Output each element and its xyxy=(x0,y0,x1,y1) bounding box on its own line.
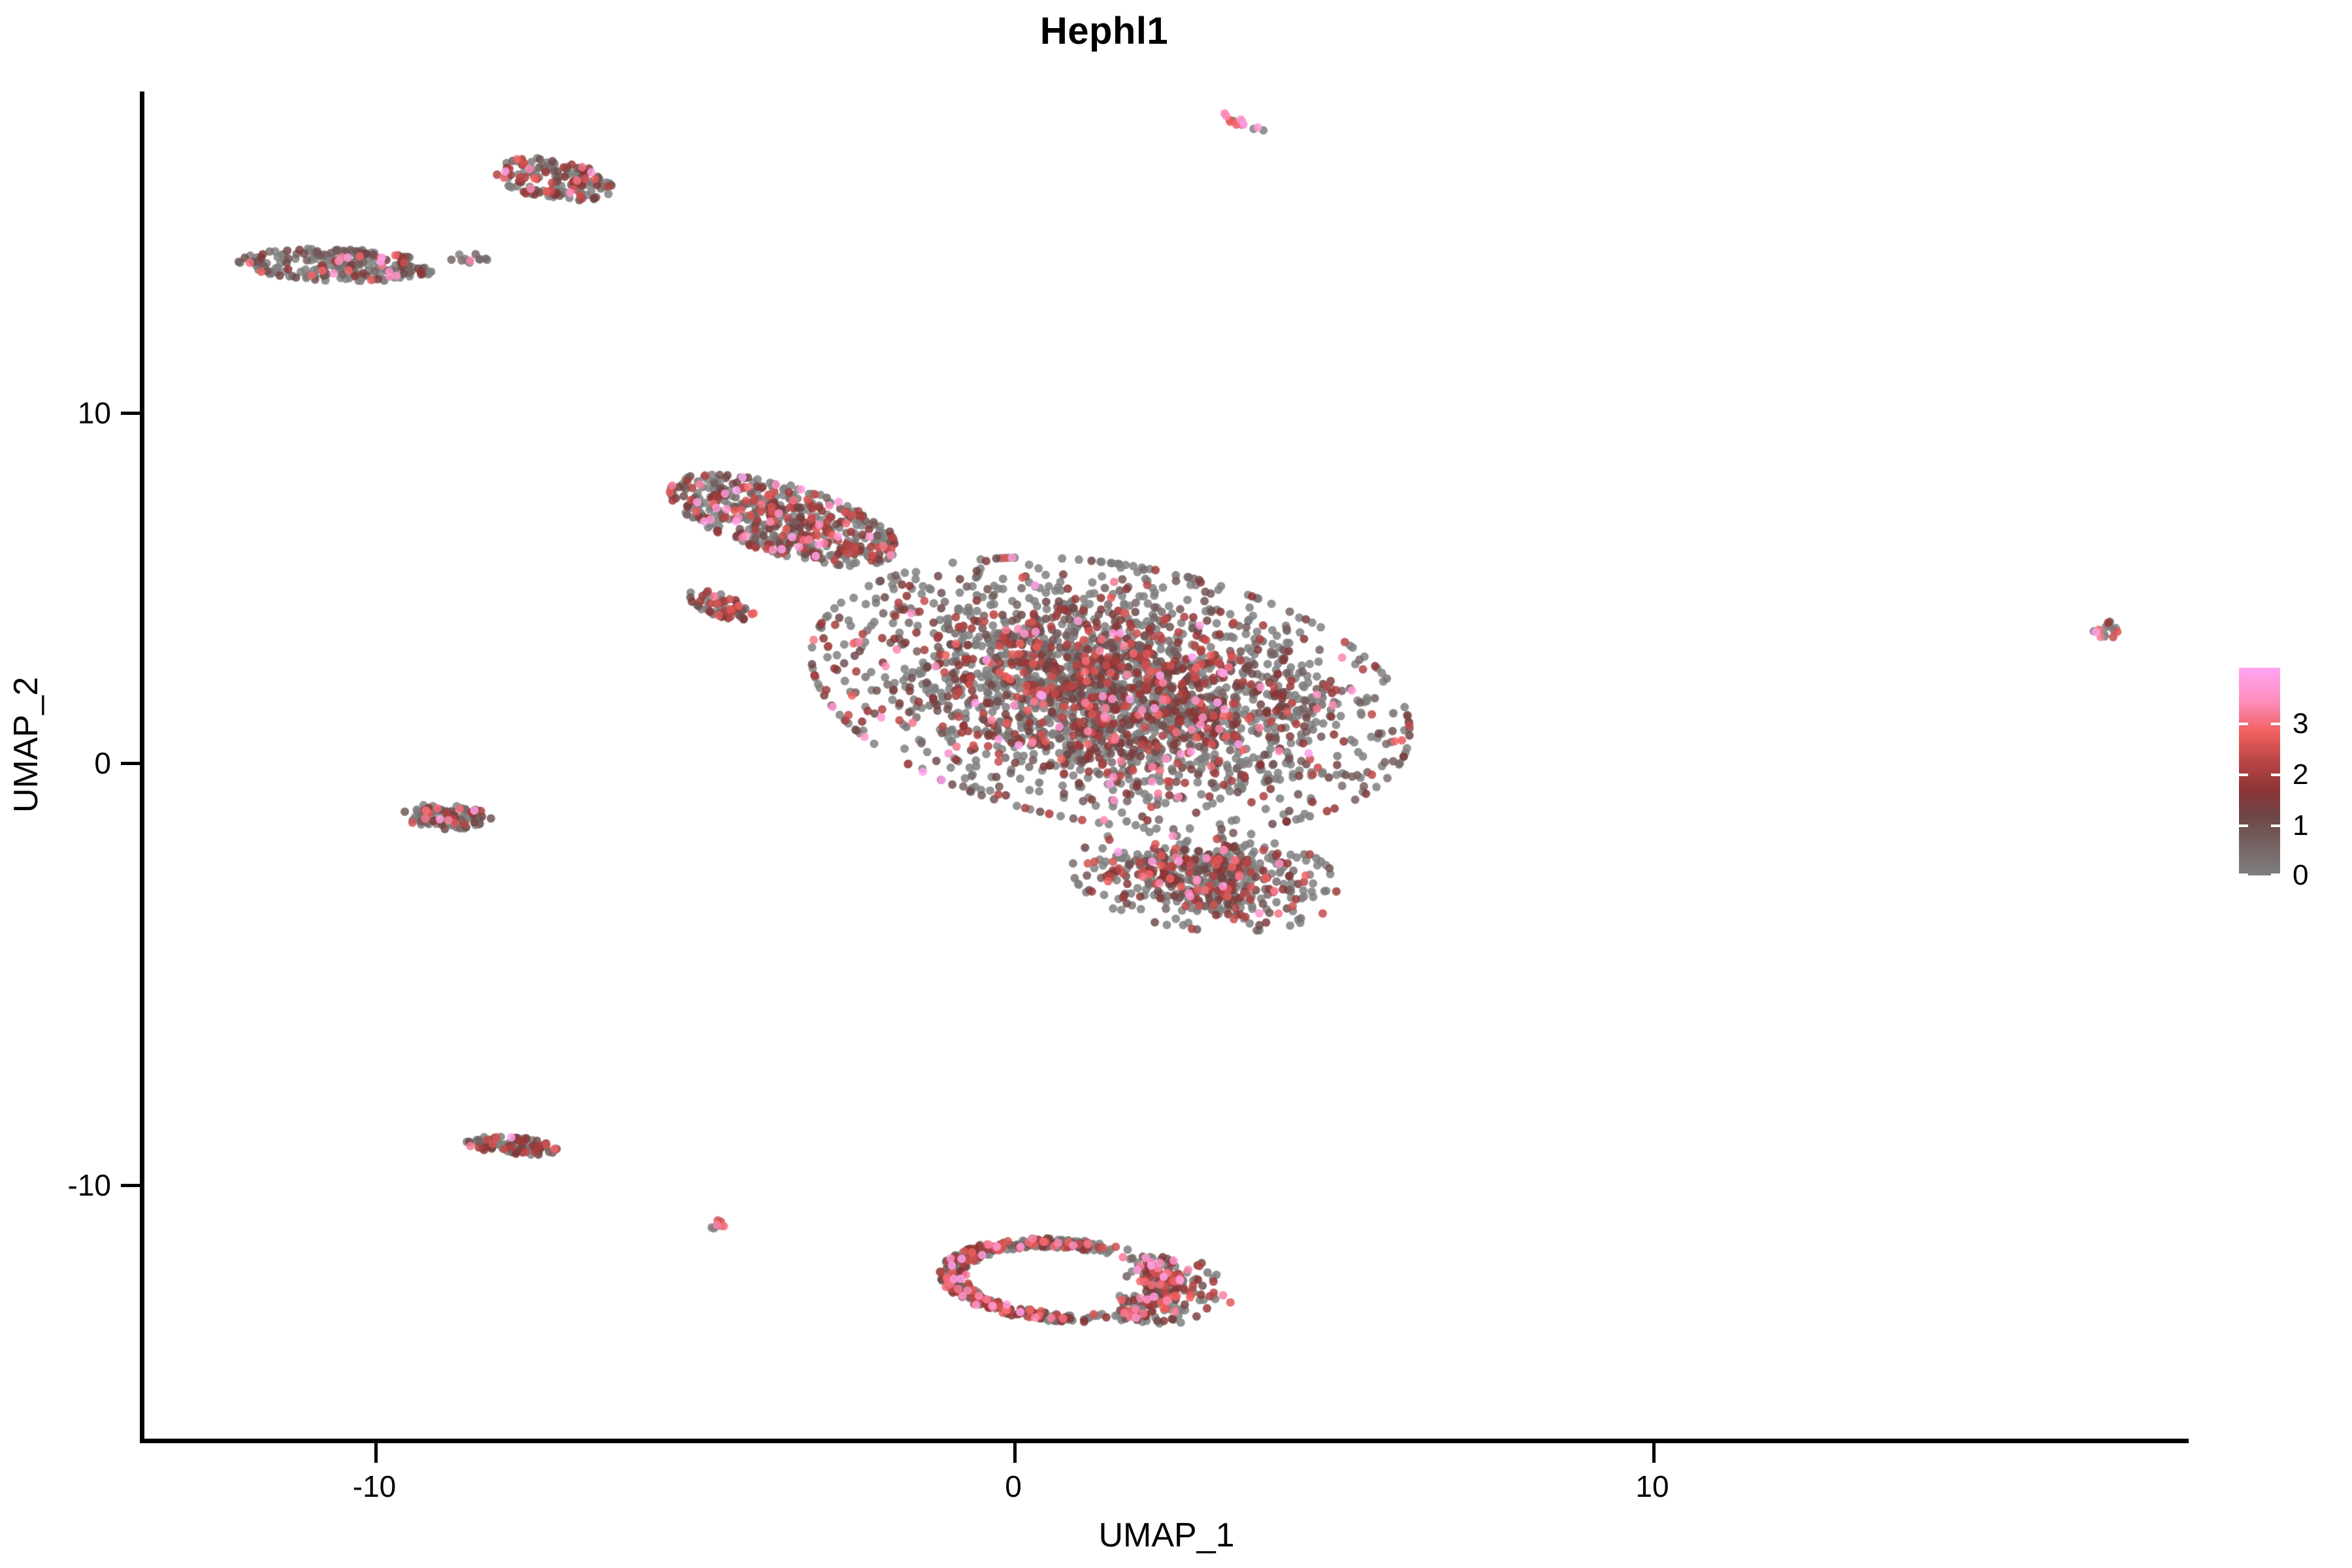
y-axis-title: UMAP_2 xyxy=(7,483,46,1006)
x-tick-label-10: 10 xyxy=(1635,1469,1669,1504)
legend-colorbar: 3 2 1 0 xyxy=(2239,668,2337,883)
colorbar-tick-1-right xyxy=(2271,825,2280,827)
y-tick-mark-neg10 xyxy=(121,1184,140,1187)
y-tick-label-10: 10 xyxy=(78,395,111,431)
y-tick-mark-10 xyxy=(121,412,140,415)
x-tick-label-neg10: -10 xyxy=(353,1469,396,1504)
y-tick-label-neg10: -10 xyxy=(68,1168,111,1203)
umap-feature-plot: Hephl1 10 0 -10 -10 0 10 UMAP_1 UMAP_2 3… xyxy=(0,0,2352,1568)
x-tick-label-0: 0 xyxy=(1005,1469,1022,1504)
colorbar-tick-3-left xyxy=(2239,723,2248,725)
x-axis-line xyxy=(140,1439,2189,1443)
colorbar-tick-0-right xyxy=(2271,874,2280,876)
scatter-canvas xyxy=(144,91,2189,1441)
x-axis-title: UMAP_1 xyxy=(144,1516,2189,1555)
legend-label-1: 1 xyxy=(2293,809,2308,842)
legend-label-0: 0 xyxy=(2293,859,2308,892)
colorbar-tick-2-right xyxy=(2271,774,2280,776)
colorbar-gradient xyxy=(2239,668,2280,875)
colorbar-tick-3-right xyxy=(2271,723,2280,725)
colorbar-tick-1-left xyxy=(2239,825,2248,827)
legend-label-3: 3 xyxy=(2293,708,2308,740)
y-tick-label-0: 0 xyxy=(94,745,111,781)
x-tick-mark-0 xyxy=(1013,1443,1017,1463)
colorbar-tick-0-left xyxy=(2239,874,2248,876)
legend-label-2: 2 xyxy=(2293,759,2308,791)
x-tick-mark-10 xyxy=(1652,1443,1656,1463)
colorbar-tick-2-left xyxy=(2239,774,2248,776)
x-tick-mark-neg10 xyxy=(374,1443,378,1463)
plot-panel xyxy=(144,91,2189,1441)
y-tick-mark-0 xyxy=(121,762,140,765)
y-axis-line xyxy=(140,91,144,1443)
page-title: Hephl1 xyxy=(0,9,2208,53)
